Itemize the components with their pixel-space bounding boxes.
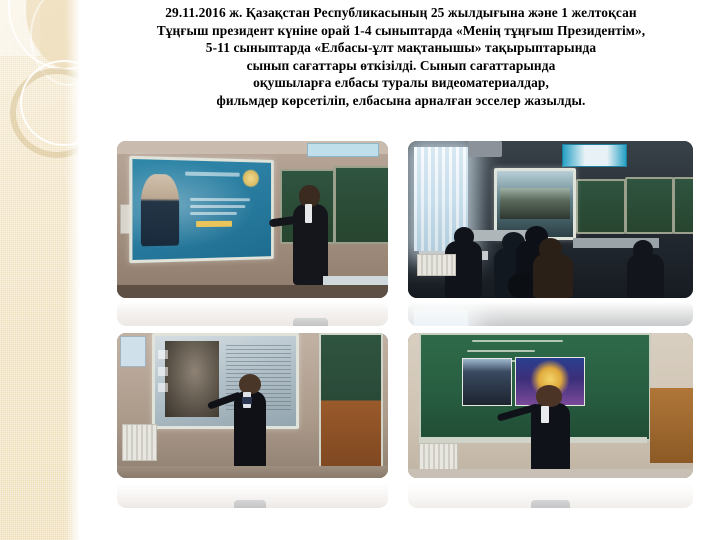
photo-bottom-left[interactable] xyxy=(117,333,388,478)
photo-top-left[interactable] xyxy=(117,141,388,298)
band-edge-fade xyxy=(65,0,79,540)
photo-bottom-left-reflection xyxy=(117,480,388,508)
title-line-3: 5-11 сыныптарда «Елбасы-ұлт мақтанышы» т… xyxy=(86,39,716,57)
photo-bottom-right-reflection xyxy=(408,480,693,508)
title-line-1: 29.11.2016 ж. Қазақстан Республикасының … xyxy=(86,4,716,22)
photo-top-right-reflection xyxy=(408,300,693,326)
photo-top-left-reflection xyxy=(117,300,388,326)
photo-bottom-right[interactable] xyxy=(408,333,693,478)
title-line-2: Тұңғыш президент күніне орай 1-4 сыныпта… xyxy=(86,22,716,40)
title-line-4: сынып сағаттары өткізілді. Сынып сағатта… xyxy=(86,57,716,75)
title-line-6: фильмдер көрсетіліп, елбасына арналған э… xyxy=(86,92,716,110)
title-line-5: оқушыларға елбасы туралы видеоматериалда… xyxy=(86,74,716,92)
decorative-side-band xyxy=(0,0,79,540)
photo-top-right[interactable] xyxy=(408,141,693,298)
slide-title: 29.11.2016 ж. Қазақстан Республикасының … xyxy=(86,4,716,110)
presentation-slide: 29.11.2016 ж. Қазақстан Республикасының … xyxy=(0,0,720,540)
